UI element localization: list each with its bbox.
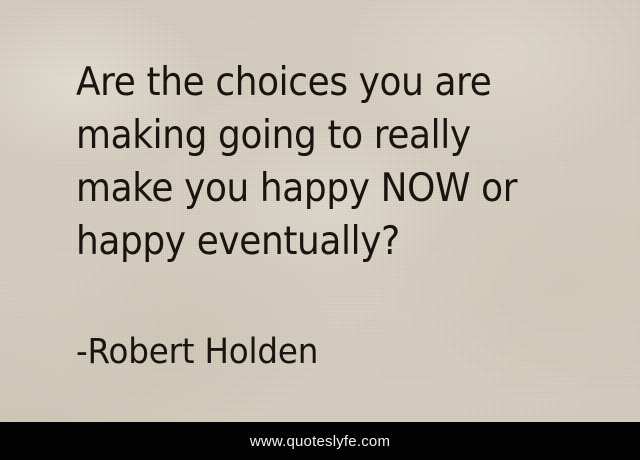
quote-line: make you happy NOW or — [76, 162, 554, 215]
quote-line: Are the choices you are — [76, 56, 554, 109]
footer-website-url: www.quoteslyfe.com — [250, 433, 390, 450]
quote-text: Are the choices you are making going to … — [76, 56, 596, 268]
quote-line: making going to really — [76, 109, 554, 162]
quote-line: happy eventually? — [76, 215, 554, 268]
footer-bar: www.quoteslyfe.com — [0, 422, 640, 460]
quote-attribution: -Robert Holden — [76, 330, 318, 374]
quote-card: Are the choices you are making going to … — [0, 0, 640, 460]
